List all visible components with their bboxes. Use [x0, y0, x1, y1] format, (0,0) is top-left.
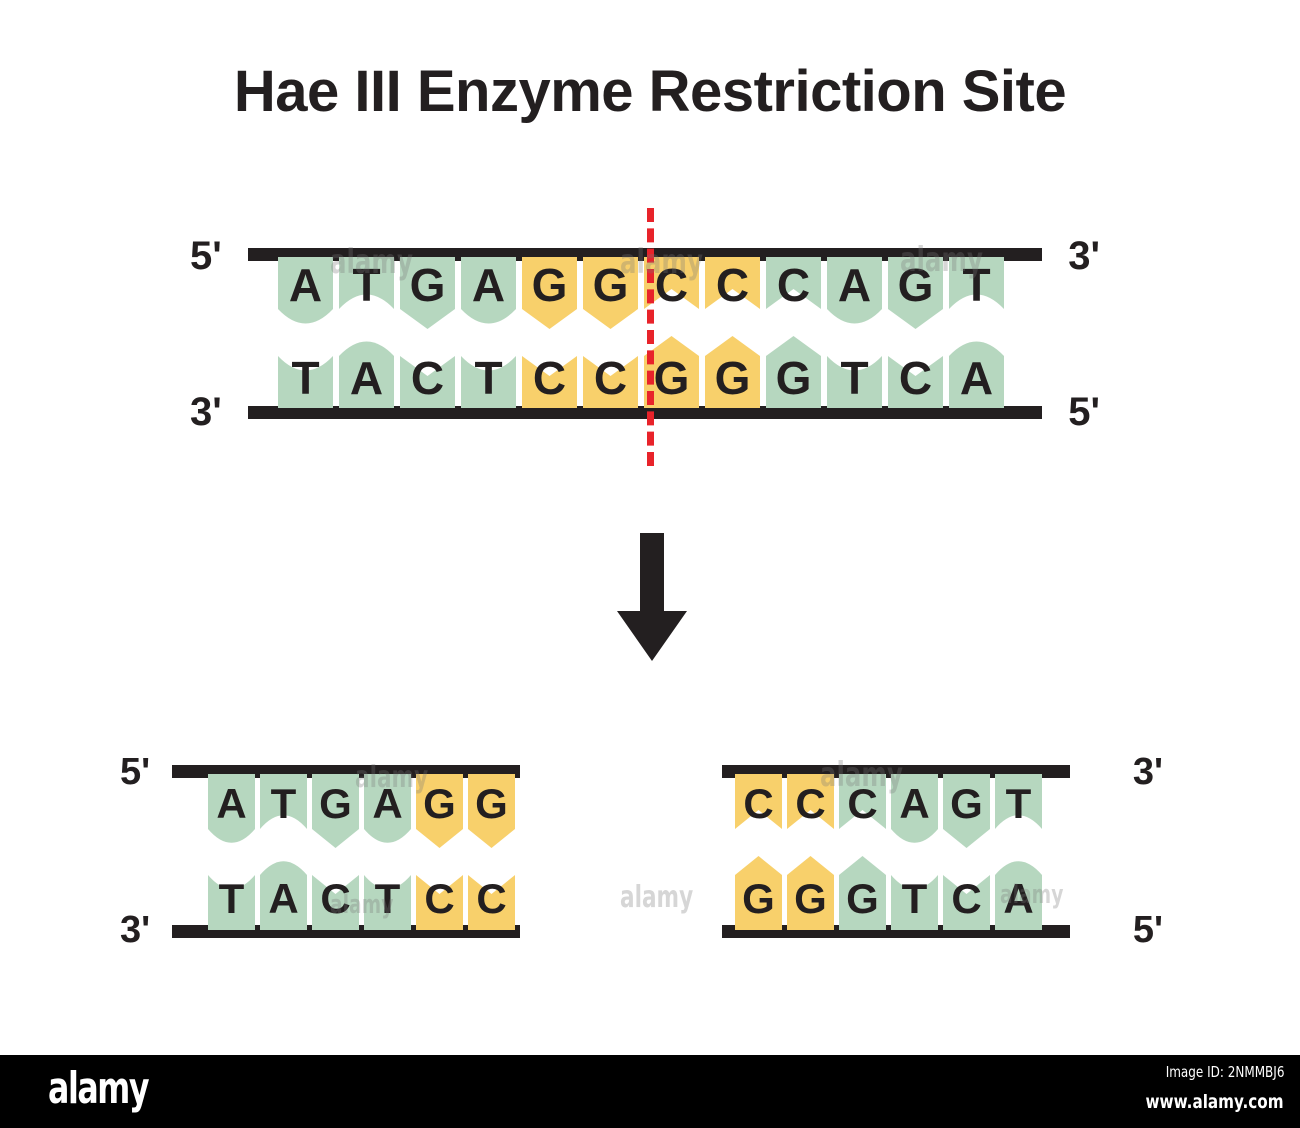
base-tile-top: C	[839, 774, 886, 829]
base-tile-top: G	[583, 257, 638, 329]
base-letter: T	[962, 259, 990, 311]
base-tile-top: G	[943, 774, 990, 848]
base-letter: T	[840, 352, 868, 404]
base-letter: A	[899, 780, 929, 827]
base-tile-top: C	[735, 774, 782, 829]
base-letter: C	[411, 352, 444, 404]
base-tile-bottom: T	[278, 352, 333, 408]
base-letter: A	[289, 259, 322, 311]
base-letter: C	[743, 780, 773, 827]
base-tile-bottom: C	[468, 875, 515, 930]
alamy-url-text: www.alamy.com	[1146, 1091, 1284, 1113]
base-tile-bottom: T	[364, 875, 411, 930]
image-id-text: Image ID: 2NMMBJ6	[1165, 1063, 1284, 1081]
base-letter: C	[716, 259, 749, 311]
right-dna-fragment: CGCGCGATGCTA3'5'	[715, 748, 1185, 954]
base-letter: T	[902, 875, 928, 922]
base-letter: G	[898, 259, 934, 311]
base-tile-bottom: C	[400, 352, 455, 408]
alamy-ghost-watermark: alamy	[620, 880, 693, 915]
scissors-cut-line-icon	[647, 208, 654, 466]
base-tile-bottom: C	[943, 875, 990, 930]
base-tile-bottom: T	[891, 875, 938, 930]
base-letter: T	[291, 352, 319, 404]
base-pair-tiles: ATTAGCATGCGC	[120, 748, 590, 954]
base-tile-top: G	[416, 774, 463, 848]
base-tile-top: C	[766, 257, 821, 311]
base-letter: C	[655, 259, 688, 311]
base-letter: G	[776, 352, 812, 404]
base-letter: G	[319, 780, 352, 827]
base-pair-tiles: CGCGCGATGCTA	[715, 748, 1185, 954]
base-letter: C	[951, 875, 981, 922]
base-letter: G	[794, 875, 827, 922]
left-dna-fragment: ATTAGCATGCGC5'3'	[120, 748, 590, 954]
watermark-footer-bar: alamy Image ID: 2NMMBJ6 www.alamy.com	[0, 1055, 1300, 1128]
end-label-right-bottom: 5'	[1068, 392, 1100, 432]
base-letter: C	[320, 875, 350, 922]
base-letter: G	[846, 875, 879, 922]
base-tile-top: G	[522, 257, 577, 329]
base-letter: T	[375, 875, 401, 922]
base-letter: G	[410, 259, 446, 311]
end-label-right-bottom: 5'	[1133, 911, 1163, 949]
base-letter: T	[271, 780, 297, 827]
base-tile-bottom: T	[461, 352, 516, 408]
base-tile-bottom: A	[949, 342, 1004, 409]
base-tile-bottom: A	[339, 342, 394, 409]
base-tile-top: G	[400, 257, 455, 329]
alamy-logo: alamy	[48, 1063, 148, 1114]
base-letter: A	[350, 352, 383, 404]
base-letter: C	[476, 875, 506, 922]
base-letter: A	[1003, 875, 1033, 922]
base-letter: A	[472, 259, 505, 311]
base-letter: G	[593, 259, 629, 311]
base-letter: G	[950, 780, 983, 827]
base-letter: G	[715, 352, 751, 404]
base-letter: T	[219, 875, 245, 922]
base-tile-top: A	[461, 257, 516, 324]
base-tile-top: G	[468, 774, 515, 848]
base-tile-top: A	[827, 257, 882, 324]
base-tile-top: A	[278, 257, 333, 324]
end-label-right-top: 3'	[1068, 236, 1100, 276]
base-tile-bottom: G	[766, 336, 821, 408]
base-letter: C	[594, 352, 627, 404]
base-letter: G	[654, 352, 690, 404]
base-tile-top: A	[364, 774, 411, 843]
base-tile-top: T	[949, 257, 1004, 311]
base-tile-bottom: T	[208, 875, 255, 930]
base-tile-bottom: C	[888, 352, 943, 408]
base-tile-bottom: C	[312, 875, 359, 930]
base-letter: T	[474, 352, 502, 404]
base-letter: A	[372, 780, 402, 827]
base-letter: T	[352, 259, 380, 311]
base-letter: G	[742, 875, 775, 922]
base-letter: C	[899, 352, 932, 404]
base-tile-top: T	[995, 774, 1042, 829]
base-letter: A	[216, 780, 246, 827]
base-tile-bottom: G	[705, 336, 760, 408]
base-letter: C	[847, 780, 877, 827]
base-tile-top: T	[339, 257, 394, 311]
uncut-dna-duplex: ATTAGCATGCGCCGCGCGATGCTA5'3'3'5'	[190, 228, 1100, 438]
base-tile-top: T	[260, 774, 307, 829]
base-tile-bottom: A	[995, 861, 1042, 930]
end-label-left-bottom: 3'	[190, 392, 222, 432]
base-tile-bottom: G	[839, 856, 886, 930]
base-letter: C	[777, 259, 810, 311]
end-label-left-top: 5'	[190, 236, 222, 276]
base-letter: A	[838, 259, 871, 311]
base-letter: A	[268, 875, 298, 922]
base-letter: T	[1006, 780, 1032, 827]
base-letter: C	[533, 352, 566, 404]
base-letter: G	[423, 780, 456, 827]
base-tile-top: A	[208, 774, 255, 843]
base-tile-top: G	[312, 774, 359, 848]
base-letter: C	[795, 780, 825, 827]
base-letter: C	[424, 875, 454, 922]
end-label-right-top: 3'	[1133, 753, 1163, 791]
base-tile-bottom: C	[522, 352, 577, 408]
base-tile-bottom: C	[416, 875, 463, 930]
base-tile-bottom: G	[735, 856, 782, 930]
base-tile-bottom: A	[260, 861, 307, 930]
base-tile-bottom: T	[827, 352, 882, 408]
base-letter: G	[532, 259, 568, 311]
base-tile-bottom: C	[583, 352, 638, 408]
end-label-left-top: 5'	[120, 753, 150, 791]
end-label-left-bottom: 3'	[120, 911, 150, 949]
base-letter: A	[960, 352, 993, 404]
base-tile-bottom: G	[787, 856, 834, 930]
base-letter: G	[475, 780, 508, 827]
base-tile-top: G	[888, 257, 943, 329]
base-tile-top: C	[705, 257, 760, 311]
base-tile-top: A	[891, 774, 938, 843]
diagram-canvas: Hae III Enzyme Restriction Site ATTAGCAT…	[0, 0, 1300, 1128]
page-title: Hae III Enzyme Restriction Site	[0, 58, 1300, 125]
down-arrow-icon	[607, 533, 697, 663]
base-tile-top: C	[787, 774, 834, 829]
base-pair-tiles: ATTAGCATGCGCCGCGCGATGCTA	[190, 228, 1100, 438]
